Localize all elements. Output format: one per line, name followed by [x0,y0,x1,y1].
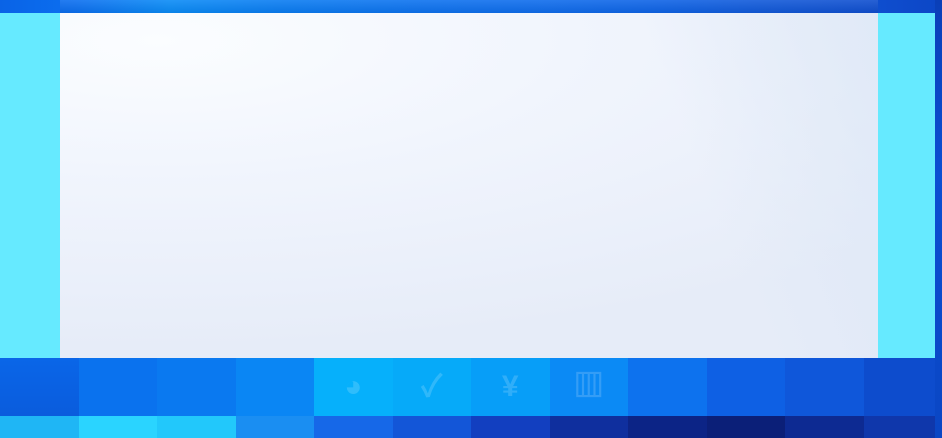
banner-tile-check: ✓ [393,358,472,416]
right-edge-strip [935,0,942,438]
banner-tile [79,358,158,416]
banner-tile [157,358,236,416]
banner-tile [236,358,315,416]
content-panel [60,13,878,358]
banner-tiles: ◕ ✓ ¥ ▥ [0,358,942,416]
banner-tile [628,358,707,416]
right-cyan-bar [878,13,935,358]
banner-strip-cell [79,416,158,438]
bar-chart-icon: ▥ [574,372,604,402]
banner-strip-cell [471,416,550,438]
banner-strip-cell [393,416,472,438]
banner-tile-chart: ▥ [550,358,629,416]
banner-strip-cell [0,416,79,438]
banner-strip-cell [236,416,315,438]
banner-strip-cell [628,416,707,438]
banner-tile [864,358,942,416]
banner-bottom-strip [0,416,942,438]
left-cyan-bar [0,13,60,358]
banner-strip-cell [314,416,393,438]
top-strip-shade [60,0,878,13]
banner-tile-yen: ¥ [471,358,550,416]
top-gradient-strip [0,0,942,13]
banner-tile [707,358,786,416]
banner-strip-cell [157,416,236,438]
check-icon: ✓ [422,372,443,402]
bottom-banner: ◕ ✓ ¥ ▥ [0,358,942,438]
banner-tile [785,358,864,416]
yen-icon: ¥ [502,372,519,402]
banner-strip-cell [785,416,864,438]
banner-strip-cell [864,416,942,438]
banner-strip-cell [550,416,629,438]
banner-tile [0,358,79,416]
clock-icon: ◕ [344,372,362,402]
banner-tile-clock: ◕ [314,358,393,416]
banner-strip-cell [707,416,786,438]
broadcast-screen: CCTV 2 财经 春节旅游订单境外游热门目的地 数据来源：携程 泰 国 马来西… [0,0,942,438]
